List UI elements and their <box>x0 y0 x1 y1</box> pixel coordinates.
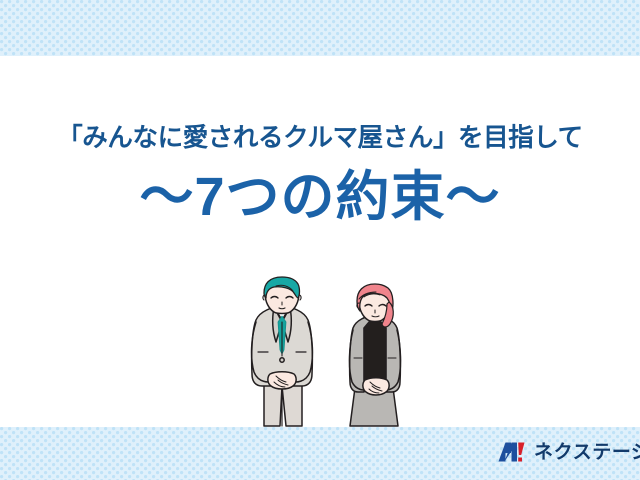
female-staff-figure <box>349 284 400 426</box>
headline-block: 「みんなに愛されるクルマ屋さん」を目指して 〜7つの約束〜 <box>0 118 640 230</box>
nextage-n-mark <box>497 440 527 464</box>
two-staff-bowing-illustration <box>236 276 428 428</box>
slide-canvas: 「みんなに愛されるクルマ屋さん」を目指して 〜7つの約束〜 <box>0 0 640 480</box>
nextage-wordmark: ネクステージ <box>534 443 640 462</box>
headline-line-1: 「みんなに愛されるクルマ屋さん」を目指して <box>0 118 640 158</box>
decorative-dot-band-top <box>0 0 640 56</box>
nextage-logo: ネクステージ <box>497 437 625 467</box>
headline-line-2: 〜7つの約束〜 <box>0 164 640 230</box>
male-staff-figure <box>252 277 313 426</box>
